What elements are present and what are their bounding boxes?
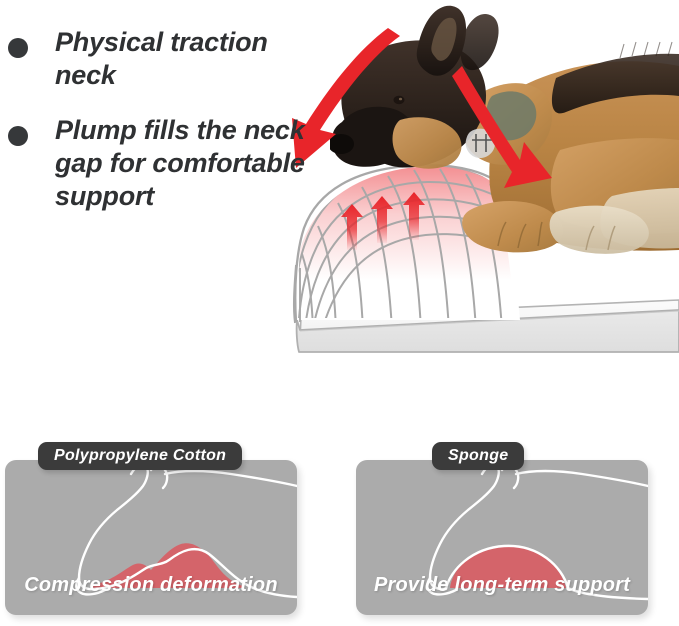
feature-bullet-list: Physical traction neck Plump fills the n… bbox=[0, 26, 330, 235]
list-item: Plump fills the neck gap for comfortable… bbox=[0, 114, 330, 213]
infographic-page: Physical traction neck Plump fills the n… bbox=[0, 0, 679, 626]
bullet-dot-icon bbox=[8, 126, 28, 146]
bullet-label: Plump fills the neck gap for comfortable… bbox=[55, 114, 330, 213]
bullet-dot-icon bbox=[8, 38, 28, 58]
panel-badge-label: Polypropylene Cotton bbox=[38, 442, 242, 470]
comparison-section: Polypropylene Cotton Compression deforma… bbox=[0, 430, 679, 626]
panel-caption: Compression deformation bbox=[5, 574, 297, 597]
panel-badge-label: Sponge bbox=[432, 442, 524, 470]
hero-section: Physical traction neck Plump fills the n… bbox=[0, 0, 679, 430]
panel-caption: Provide long-term support bbox=[356, 574, 648, 597]
comparison-panel-sponge: Sponge Provide long-term support bbox=[356, 460, 648, 615]
comparison-panel-polypropylene: Polypropylene Cotton Compression deforma… bbox=[5, 460, 297, 615]
list-item: Physical traction neck bbox=[0, 26, 330, 92]
bullet-label: Physical traction neck bbox=[55, 26, 330, 92]
